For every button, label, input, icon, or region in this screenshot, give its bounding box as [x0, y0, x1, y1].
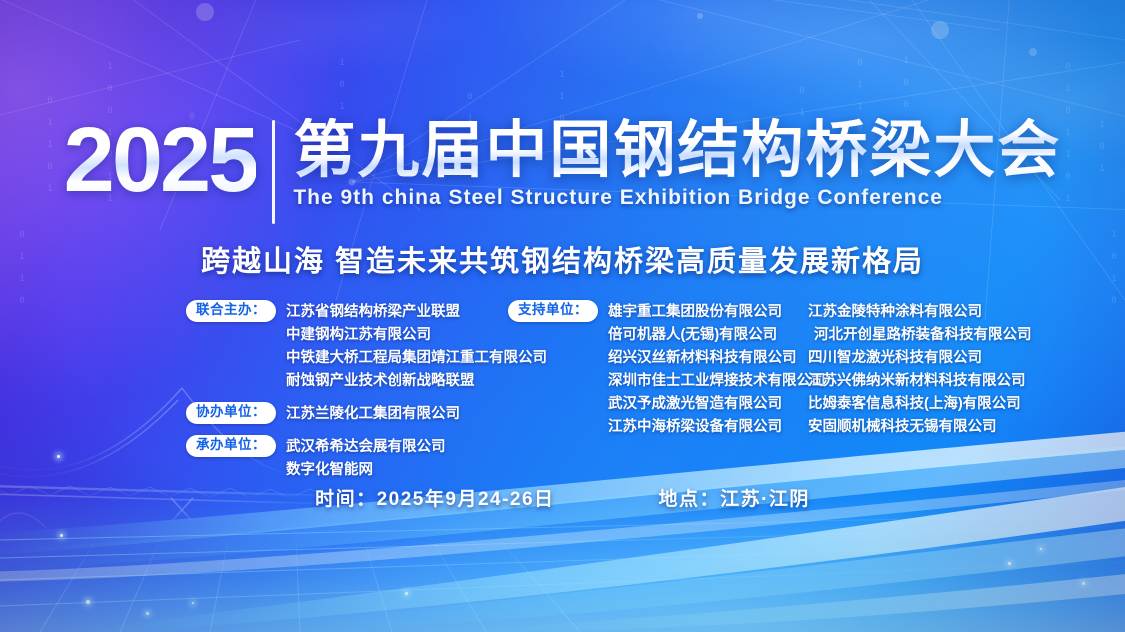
organizations-section: 联合主办： 江苏省钢结构桥梁产业联盟 中建钢构江苏有限公司 中铁建大桥工程局集团… [186, 300, 1034, 491]
sparkle-decoration [86, 600, 90, 604]
badge-undertaker: 承办单位： [186, 435, 276, 457]
org-group-supporter: 支持单位： 雄宇重工集团股份有限公司 倍可机器人(无锡)有限公司 绍兴汉丝新材料… [508, 300, 808, 439]
list-item: 倍可机器人(无锡)有限公司 [608, 324, 826, 347]
title-divider [272, 120, 275, 224]
tagline: 跨越山海 智造未来共筑钢结构桥梁高质量发展新格局 [0, 238, 1125, 280]
list-item: 数字化智能网 [286, 459, 446, 482]
year-heading: 2025 [64, 118, 257, 203]
sparkle-decoration [1040, 548, 1042, 550]
organizer-column-right: 江苏金陵特种涂料有限公司 河北开创星路桥装备科技有限公司 四川智龙激光科技有限公… [808, 300, 1034, 439]
list-item: 武汉予成激光智造有限公司 [608, 393, 826, 416]
sparkle-decoration [1082, 582, 1085, 585]
org-list-supporter: 雄宇重工集团股份有限公司 倍可机器人(无锡)有限公司 绍兴汉丝新材料科技有限公司… [608, 300, 826, 439]
sparkle-decoration [60, 534, 63, 537]
list-item: 武汉希希达会展有限公司 [286, 436, 446, 459]
list-item: 比姆泰客信息科技(上海)有限公司 [808, 393, 1034, 416]
binary-decoration: 1 0 0 1 [900, 56, 912, 118]
list-item: 江苏金陵特种涂料有限公司 [808, 301, 1034, 324]
organizer-column-middle: 支持单位： 雄宇重工集团股份有限公司 倍可机器人(无锡)有限公司 绍兴汉丝新材料… [508, 300, 808, 448]
sparkle-decoration [192, 602, 194, 604]
list-item: 江苏兴佛纳米新材料科技有限公司 [808, 370, 1034, 393]
list-item: 江苏中海桥梁设备有限公司 [608, 416, 826, 439]
list-item: 绍兴汉丝新材料科技有限公司 [608, 347, 826, 370]
conference-poster: 0 1 1 0 1 1 0 0 1 0 1 1 0 1 1 1 0 1 0 0 … [0, 0, 1125, 632]
event-date-value: 2025年9月24-26日 [377, 489, 555, 510]
page-title: 第九届中国钢结构桥梁大会 [293, 118, 1061, 184]
title-block: 第九届中国钢结构桥梁大会 The 9th china Steel Structu… [293, 118, 1061, 210]
org-group-co-host: 联合主办： 江苏省钢结构桥梁产业联盟 中建钢构江苏有限公司 中铁建大桥工程局集团… [186, 300, 508, 393]
badge-supporter: 支持单位： [508, 300, 598, 322]
event-location: 地点：江苏·江阴 [659, 484, 810, 511]
list-item: 深圳市佳士工业焊接技术有限公司 [608, 370, 826, 393]
sparkle-decoration [146, 612, 149, 615]
org-list-undertaker: 武汉希希达会展有限公司 数字化智能网 [286, 435, 446, 482]
org-group-co-organizer: 协办单位： 江苏兰陵化工集团有限公司 [186, 402, 508, 426]
list-item: 安固顺机械科技无锡有限公司 [808, 416, 1034, 439]
list-item: 四川智龙激光科技有限公司 [808, 347, 1034, 370]
badge-co-host: 联合主办： [186, 300, 276, 322]
page-subtitle-english: The 9th china Steel Structure Exhibition… [293, 186, 1061, 210]
badge-co-organizer: 协办单位： [186, 402, 276, 424]
event-location-value: 江苏·江阴 [720, 489, 810, 510]
event-location-label: 地点： [659, 489, 721, 510]
event-date: 时间：2025年9月24-26日 [315, 484, 554, 511]
org-group-undertaker: 承办单位： 武汉希希达会展有限公司 数字化智能网 [186, 435, 508, 482]
org-list-co-organizer: 江苏兰陵化工集团有限公司 [286, 402, 460, 426]
sparkle-decoration [405, 592, 408, 595]
event-meta: 时间：2025年9月24-26日 地点：江苏·江阴 [0, 484, 1125, 511]
list-item: 河北开创星路桥装备科技有限公司 [808, 324, 1034, 347]
organizer-column-left: 联合主办： 江苏省钢结构桥梁产业联盟 中建钢构江苏有限公司 中铁建大桥工程局集团… [186, 300, 508, 491]
sparkle-decoration [1008, 562, 1011, 565]
list-item: 江苏兰陵化工集团有限公司 [286, 403, 460, 426]
event-date-label: 时间： [315, 489, 377, 510]
sparkle-decoration [57, 455, 60, 458]
list-item: 雄宇重工集团股份有限公司 [608, 301, 826, 324]
poster-header: 2025 第九届中国钢结构桥梁大会 The 9th china Steel St… [0, 118, 1125, 224]
